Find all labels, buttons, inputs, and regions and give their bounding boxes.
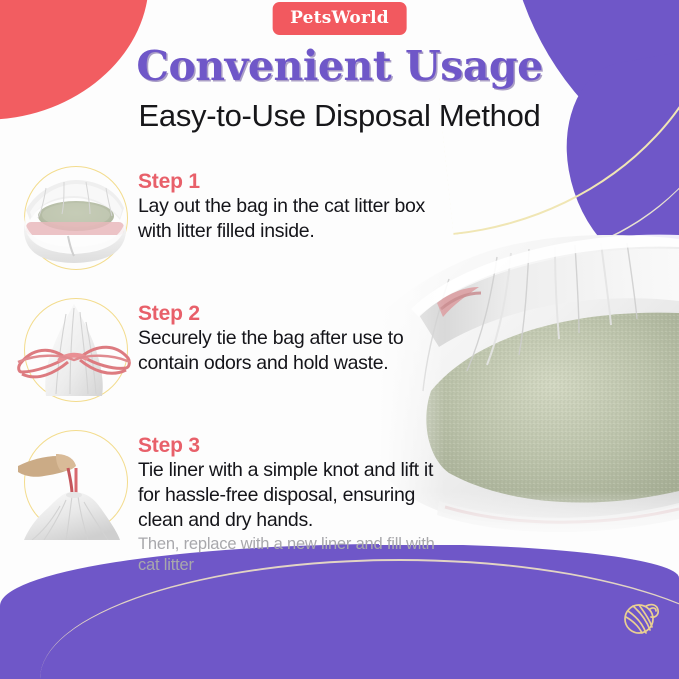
step-body: Tie liner with a simple knot and lift it… xyxy=(138,458,450,533)
step-text: Step 1 Lay out the bag in the cat litter… xyxy=(130,160,438,244)
brand-badge: PetsWorld xyxy=(272,2,407,35)
page-subtitle: Easy-to-Use Disposal Method xyxy=(0,98,679,134)
page-title: Convenient Usage xyxy=(0,42,679,90)
step-body: Securely tie the bag after use to contai… xyxy=(138,326,438,376)
step-body: Lay out the bag in the cat litter box wi… xyxy=(138,194,438,244)
infographic-canvas: PetsWorld Convenient Usage Easy-to-Use D… xyxy=(0,0,679,679)
step-row: Step 2 Securely tie the bag after use to… xyxy=(0,292,470,410)
step-row: Step 1 Lay out the bag in the cat litter… xyxy=(0,160,470,278)
litter-box-liner-illustration xyxy=(16,160,132,276)
tied-bag-with-ribbon-thumbnail xyxy=(12,292,130,410)
yarn-ball-icon xyxy=(619,597,661,639)
step-sub-note: Then, replace with a new liner and fill … xyxy=(138,534,438,577)
step-text: Step 3 Tie liner with a simple knot and … xyxy=(130,424,450,577)
hand-lifting-bag-thumbnail xyxy=(12,424,130,542)
hand-lifting-bag-illustration xyxy=(16,424,132,540)
step-label: Step 1 xyxy=(138,170,438,193)
tied-bag-ribbon-illustration xyxy=(16,292,132,408)
step-label: Step 3 xyxy=(138,434,450,457)
steps-list: Step 1 Lay out the bag in the cat litter… xyxy=(0,160,470,591)
litter-box-with-liner-thumbnail xyxy=(12,160,130,278)
step-label: Step 2 xyxy=(138,302,438,325)
step-row: Step 3 Tie liner with a simple knot and … xyxy=(0,424,470,577)
step-text: Step 2 Securely tie the bag after use to… xyxy=(130,292,438,376)
